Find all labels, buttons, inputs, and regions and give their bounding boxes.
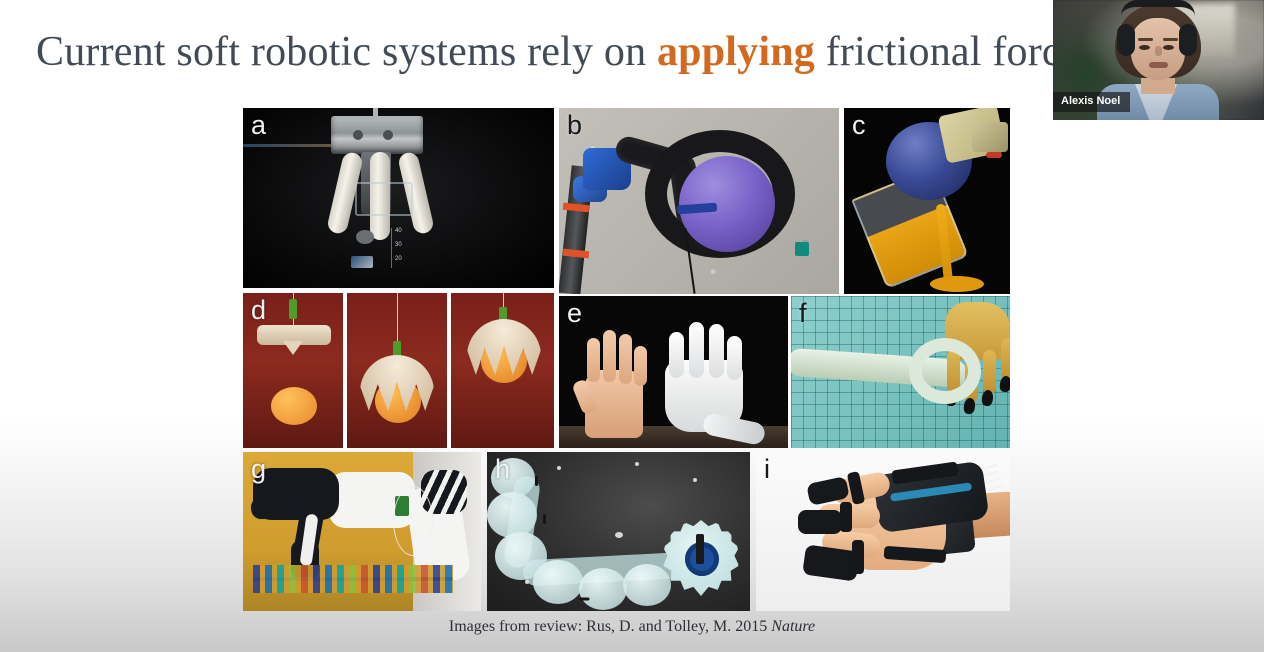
panel-a-mount [331, 116, 423, 154]
panel-label-h: h [495, 454, 510, 484]
panel-e-robot-finger [727, 336, 742, 380]
panel-f-nail [963, 397, 976, 414]
panel-e-robotic-hand [659, 318, 753, 442]
panel-f-tentacle-coil [909, 338, 981, 404]
panel-f-nail [999, 375, 1010, 392]
figure-grid: 403020 a b [243, 108, 1010, 611]
panel-c-red-marker [986, 152, 1002, 158]
panel-label-g: g [251, 454, 266, 484]
participant-eye [1163, 45, 1174, 50]
panel-e-finger [619, 334, 632, 384]
panel-label-f: f [799, 298, 807, 328]
panel-d-egg [271, 387, 317, 425]
figure-panel-b: b [559, 108, 839, 294]
panel-h-marker-dot [635, 462, 639, 466]
figure-panel-c: c [844, 108, 1010, 294]
panel-e-robot-finger [689, 322, 704, 378]
panel-e-robot-thumb [701, 412, 766, 446]
panel-b-connector [795, 242, 809, 256]
panel-d-frame-3 [451, 293, 554, 448]
panel-d-stem [289, 299, 297, 319]
caption-journal: Nature [771, 618, 815, 635]
panel-label-i: i [764, 454, 770, 484]
panel-h-segment [487, 492, 537, 538]
figure-panel-a: 403020 a [243, 108, 554, 288]
panel-label-b: b [567, 110, 582, 140]
panel-h-pin [543, 514, 546, 524]
panel-e-robot-finger [709, 324, 724, 378]
panel-h-marker-dot [525, 580, 529, 584]
panel-i-strap [840, 502, 852, 532]
panel-h-segment [623, 564, 671, 606]
panel-label-e: e [567, 298, 582, 328]
headphone-band-icon [1121, 0, 1195, 16]
figure-panel-e: e [559, 296, 788, 448]
panel-c-mount-block [972, 122, 1008, 152]
participant-nose [1155, 46, 1162, 56]
figure-panel-f: f [791, 296, 1010, 448]
panel-d-frame-2 [347, 293, 447, 448]
panel-g-tube [393, 486, 433, 556]
panel-h-hub [685, 542, 719, 576]
panel-f-digit [1001, 338, 1010, 380]
title-highlight-word: applying [657, 29, 815, 75]
panel-e-finger [603, 330, 616, 382]
participant-eye [1139, 45, 1150, 50]
headphone-earcup-left-icon [1117, 24, 1135, 56]
panel-h-pin [535, 476, 538, 486]
panel-a-object [356, 230, 374, 244]
panel-a-scale: 403020 [391, 228, 413, 268]
caption-prefix: Images from review: Rus, D. and Tolley, … [449, 618, 771, 635]
panel-h-marker-dot [615, 532, 623, 538]
figure-source-caption: Images from review: Rus, D. and Tolley, … [0, 618, 1264, 636]
panel-label-a: a [251, 110, 266, 140]
panel-a-glass [355, 182, 413, 216]
panel-label-c: c [852, 110, 866, 140]
figure-panel-g: g [243, 452, 481, 611]
panel-f-digit [983, 350, 996, 394]
panel-e-finger [587, 338, 600, 382]
panel-a-chip [351, 256, 373, 268]
panel-label-d: d [251, 295, 266, 325]
participant-mouth [1149, 62, 1168, 68]
title-text-before: Current soft robotic systems rely on [36, 29, 657, 75]
participant-eyebrow [1163, 38, 1178, 41]
panel-g-color-blocks [253, 565, 453, 593]
participant-name-label: Alexis Noel [1053, 92, 1130, 112]
figure-panel-d: d [243, 293, 554, 448]
panel-i-strap [852, 540, 864, 574]
panel-h-marker-dot [557, 466, 561, 470]
page-title: Current soft robotic systems rely on app… [36, 24, 1096, 80]
participant-video-tile[interactable]: Alexis Noel [1053, 0, 1264, 120]
panel-e-finger [634, 346, 647, 386]
panel-f-nail [981, 389, 994, 406]
panel-h-segment [579, 568, 627, 610]
panel-e-robot-finger [669, 332, 684, 378]
panel-h-pin [580, 598, 590, 601]
panel-c-liquid-pool [930, 276, 984, 292]
panel-h-segment [533, 560, 583, 604]
panel-e-human-hand [577, 326, 655, 434]
figure-panel-i: i [756, 452, 1010, 611]
panel-h-marker-dot [693, 478, 697, 482]
participant-eyebrow [1138, 38, 1153, 41]
panel-d-gripper-open [257, 325, 331, 345]
figure-panel-h: h [487, 452, 750, 611]
panel-i-actuator [798, 510, 842, 534]
headphone-earcup-right-icon [1179, 24, 1197, 56]
